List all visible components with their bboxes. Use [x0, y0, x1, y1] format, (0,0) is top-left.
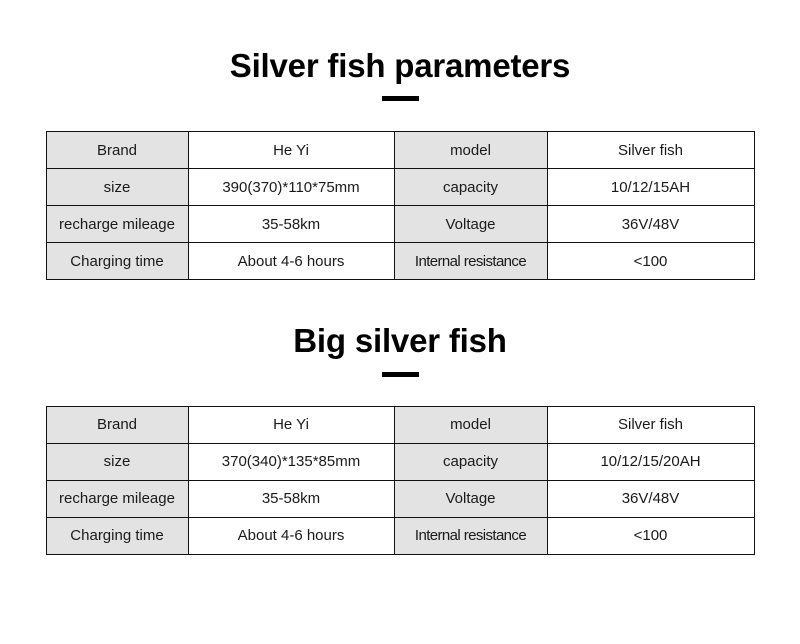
table-wrap-big-silver-fish: Brand He Yi model Silver fish size 370(3… — [0, 406, 800, 555]
cell-label-capacity: capacity — [394, 443, 547, 480]
cell-label-internal-resistance: Internal resistance — [394, 517, 547, 554]
title-underline-silver-fish — [382, 96, 419, 101]
section-silver-fish: Silver fish parameters Brand He Yi model… — [0, 0, 800, 280]
cell-value-model: Silver fish — [547, 406, 754, 443]
cell-value-voltage: 36V/48V — [547, 480, 754, 517]
cell-value-charging-time: About 4-6 hours — [188, 243, 394, 280]
cell-label-voltage: Voltage — [394, 206, 547, 243]
cell-label-recharge-mileage: recharge mileage — [46, 206, 188, 243]
cell-value-capacity: 10/12/15AH — [547, 169, 754, 206]
table-row: recharge mileage 35-58km Voltage 36V/48V — [46, 480, 754, 517]
cell-value-charging-time: About 4-6 hours — [188, 517, 394, 554]
section-big-silver-fish: Big silver fish Brand He Yi model Silver… — [0, 280, 800, 554]
spec-sheet-page: Silver fish parameters Brand He Yi model… — [0, 0, 800, 644]
table-row: Brand He Yi model Silver fish — [46, 406, 754, 443]
cell-label-charging-time: Charging time — [46, 243, 188, 280]
cell-value-recharge-mileage: 35-58km — [188, 480, 394, 517]
cell-value-capacity: 10/12/15/20AH — [547, 443, 754, 480]
cell-label-recharge-mileage: recharge mileage — [46, 480, 188, 517]
spec-table-silver-fish: Brand He Yi model Silver fish size 390(3… — [46, 131, 755, 280]
cell-label-internal-resistance: Internal resistance — [394, 243, 547, 280]
cell-value-brand: He Yi — [188, 406, 394, 443]
table-row: Brand He Yi model Silver fish — [46, 132, 754, 169]
table-row: Charging time About 4-6 hours Internal r… — [46, 243, 754, 280]
cell-value-size: 390(370)*110*75mm — [188, 169, 394, 206]
table-row: size 390(370)*110*75mm capacity 10/12/15… — [46, 169, 754, 206]
title-underline-big-silver-fish — [382, 372, 419, 377]
cell-value-internal-resistance: <100 — [547, 517, 754, 554]
cell-label-size: size — [46, 169, 188, 206]
cell-value-internal-resistance: <100 — [547, 243, 754, 280]
cell-label-model: model — [394, 132, 547, 169]
cell-label-brand: Brand — [46, 406, 188, 443]
cell-label-capacity: capacity — [394, 169, 547, 206]
cell-label-voltage: Voltage — [394, 480, 547, 517]
table-row: Charging time About 4-6 hours Internal r… — [46, 517, 754, 554]
cell-label-brand: Brand — [46, 132, 188, 169]
cell-value-size: 370(340)*135*85mm — [188, 443, 394, 480]
cell-value-recharge-mileage: 35-58km — [188, 206, 394, 243]
spec-table-big-silver-fish: Brand He Yi model Silver fish size 370(3… — [46, 406, 755, 555]
cell-value-model: Silver fish — [547, 132, 754, 169]
cell-value-voltage: 36V/48V — [547, 206, 754, 243]
cell-label-size: size — [46, 443, 188, 480]
table-row: recharge mileage 35-58km Voltage 36V/48V — [46, 206, 754, 243]
cell-value-brand: He Yi — [188, 132, 394, 169]
table-row: size 370(340)*135*85mm capacity 10/12/15… — [46, 443, 754, 480]
cell-label-charging-time: Charging time — [46, 517, 188, 554]
page-title-big-silver-fish: Big silver fish — [0, 323, 800, 359]
page-title-silver-fish: Silver fish parameters — [0, 48, 800, 84]
table-wrap-silver-fish: Brand He Yi model Silver fish size 390(3… — [0, 131, 800, 280]
cell-label-model: model — [394, 406, 547, 443]
